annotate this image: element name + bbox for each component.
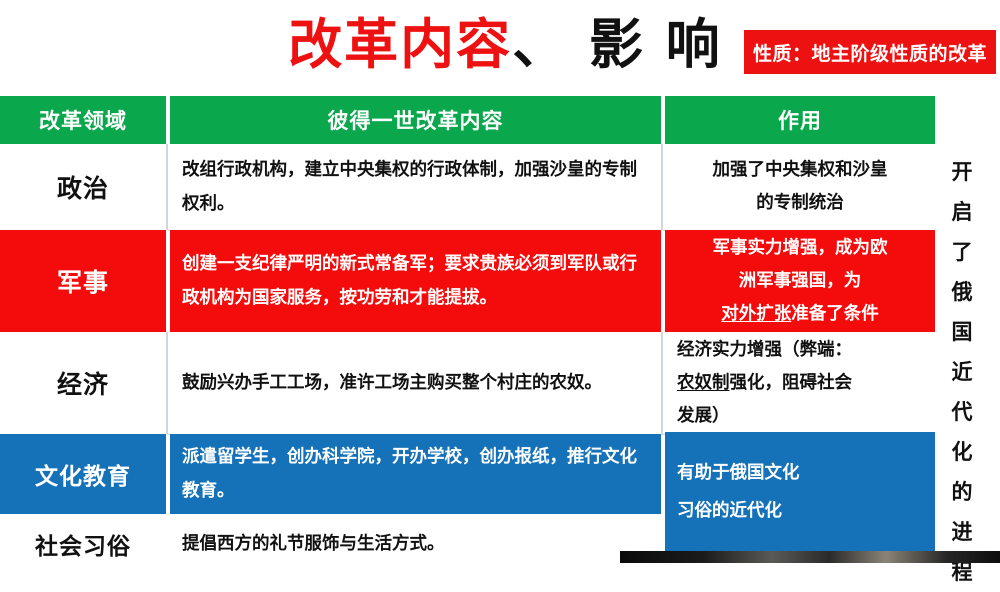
header-divider-2	[661, 96, 663, 144]
table-row-2-effect: 军事实力增强，成为欧 洲军事强国，为 对外扩张准备了条件	[665, 230, 935, 332]
table-header-content-label: 彼得一世改革内容	[328, 105, 504, 135]
table-row-2-field-label: 军事	[57, 263, 109, 299]
table-row-5-field: 社会习俗	[0, 514, 166, 574]
table-row-2-field: 军事	[0, 230, 166, 332]
vertical-summary-char-0: 开	[952, 152, 973, 192]
vertical-summary-char-3: 俄	[952, 272, 973, 312]
effect-line: 习俗的近代化	[677, 501, 782, 521]
header-divider-1	[166, 96, 168, 144]
vertical-summary-char-2: 了	[952, 232, 973, 272]
vertical-summary-char-8: 的	[952, 472, 973, 512]
page-title: 改革内容、 影 响	[270, 12, 740, 78]
table-row-1-effect-text: 加强了中央集权和沙皇 的专制统治	[713, 154, 888, 220]
table-row-4-effect: 有助于俄国文化 习俗的近代化	[665, 432, 935, 552]
table-row-3-effect: 经济实力增强（弊端： 农奴制强化，阻碍社会 发展）	[665, 332, 935, 434]
table-row-3-effect-text: 经济实力增强（弊端： 农奴制强化，阻碍社会 发展）	[677, 334, 852, 433]
table-row-5-content: 提倡西方的礼节服饰与生活方式。	[170, 514, 661, 574]
row-1-divider-2	[661, 144, 663, 230]
table-row-3-field: 经济	[0, 332, 166, 434]
bottom-photo-strip	[620, 551, 1000, 563]
row-4-divider-1	[166, 434, 168, 514]
vertical-summary-char-9: 进	[952, 512, 973, 552]
page-title-red-part: 改革内容	[288, 13, 512, 76]
table-header-effect: 作用	[665, 96, 935, 144]
table-header-field: 改革领域	[0, 96, 166, 144]
reform-table: 改革领域 彼得一世改革内容 作用 政治 改组行政机构，建立中央集权的行政体制，加…	[0, 96, 1000, 563]
table-row-1-effect: 加强了中央集权和沙皇 的专制统治	[665, 144, 935, 230]
row-2-divider-2	[661, 230, 663, 332]
table-header-content: 彼得一世改革内容	[170, 96, 661, 144]
page-title-black-part: 、 影 响	[512, 13, 722, 76]
table-row-2-effect-text: 军事实力增强，成为欧 洲军事强国，为 对外扩张准备了条件	[713, 232, 888, 331]
row-2-divider-1	[166, 230, 168, 332]
vertical-summary-char-1: 启	[952, 192, 973, 232]
table-row-4-field-label: 文化教育	[35, 457, 131, 491]
table-row-5-field-label: 社会习俗	[35, 527, 131, 561]
effect-line: 的专制统治	[756, 193, 844, 213]
row-3-divider-1	[166, 332, 168, 434]
effect-line: 经济实力增强（弊端：	[677, 340, 852, 360]
effect-line: 发展）	[677, 406, 730, 426]
effect-line-underlined: 农奴制强化，阻碍社会	[677, 373, 852, 393]
title-bar: 改革内容、 影 响 性质：地主阶级性质的改革	[0, 0, 1000, 96]
vertical-summary-char-6: 代	[952, 392, 973, 432]
table-row-4-effect-text: 有助于俄国文化 习俗的近代化	[677, 454, 800, 530]
table-row-4-content-text: 派遣留学生，创办科学院，开办学校，创办报纸，推行文化教育。	[182, 440, 651, 508]
effect-line: 军事实力增强，成为欧	[713, 238, 888, 258]
row-1-divider-1	[166, 144, 168, 230]
table-row-2-content: 创建一支纪律严明的新式常备军；要求贵族必须到军队或行政机构为国家服务，按功劳和才…	[170, 230, 661, 332]
table-row-1-field-label: 政治	[57, 169, 109, 205]
vertical-summary-char-5: 近	[952, 352, 973, 392]
table-row-1-content: 改组行政机构，建立中央集权的行政体制，加强沙皇的专制权利。	[170, 144, 661, 230]
vertical-summary-char-4: 国	[952, 312, 973, 352]
table-row-1-content-text: 改组行政机构，建立中央集权的行政体制，加强沙皇的专制权利。	[182, 153, 651, 221]
table-row-4-content: 派遣留学生，创办科学院，开办学校，创办报纸，推行文化教育。	[170, 434, 661, 514]
table-header-field-label: 改革领域	[39, 105, 127, 135]
effect-underline-text: 农奴制	[677, 373, 730, 393]
effect-line-underlined: 对外扩张准备了条件	[721, 304, 879, 324]
effect-line: 加强了中央集权和沙皇	[713, 160, 888, 180]
vertical-summary-column: 开 启 了 俄 国 近 代 化 的 进 程	[940, 152, 984, 552]
table-row-3-content-text: 鼓励兴办手工工场，准许工场主购买整个村庄的农奴。	[182, 366, 602, 400]
table-row-3-content: 鼓励兴办手工工场，准许工场主购买整个村庄的农奴。	[170, 332, 661, 434]
table-row-5-content-text: 提倡西方的礼节服饰与生活方式。	[182, 527, 445, 561]
table-row-4-field: 文化教育	[0, 434, 166, 514]
table-row-1-field: 政治	[0, 144, 166, 230]
table-row-3-field-label: 经济	[57, 365, 109, 401]
effect-line: 有助于俄国文化	[677, 463, 800, 483]
effect-underline-text: 对外扩张	[721, 304, 791, 324]
nature-badge-label: 性质：地主阶级性质的改革	[753, 39, 987, 66]
table-header-effect-label: 作用	[778, 105, 822, 135]
effect-line: 洲军事强国，为	[739, 271, 862, 291]
table-row-2-content-text: 创建一支纪律严明的新式常备军；要求贵族必须到军队或行政机构为国家服务，按功劳和才…	[182, 247, 651, 315]
nature-badge: 性质：地主阶级性质的改革	[744, 30, 996, 74]
row-3-divider-2	[661, 332, 663, 434]
vertical-summary-char-7: 化	[952, 432, 973, 472]
